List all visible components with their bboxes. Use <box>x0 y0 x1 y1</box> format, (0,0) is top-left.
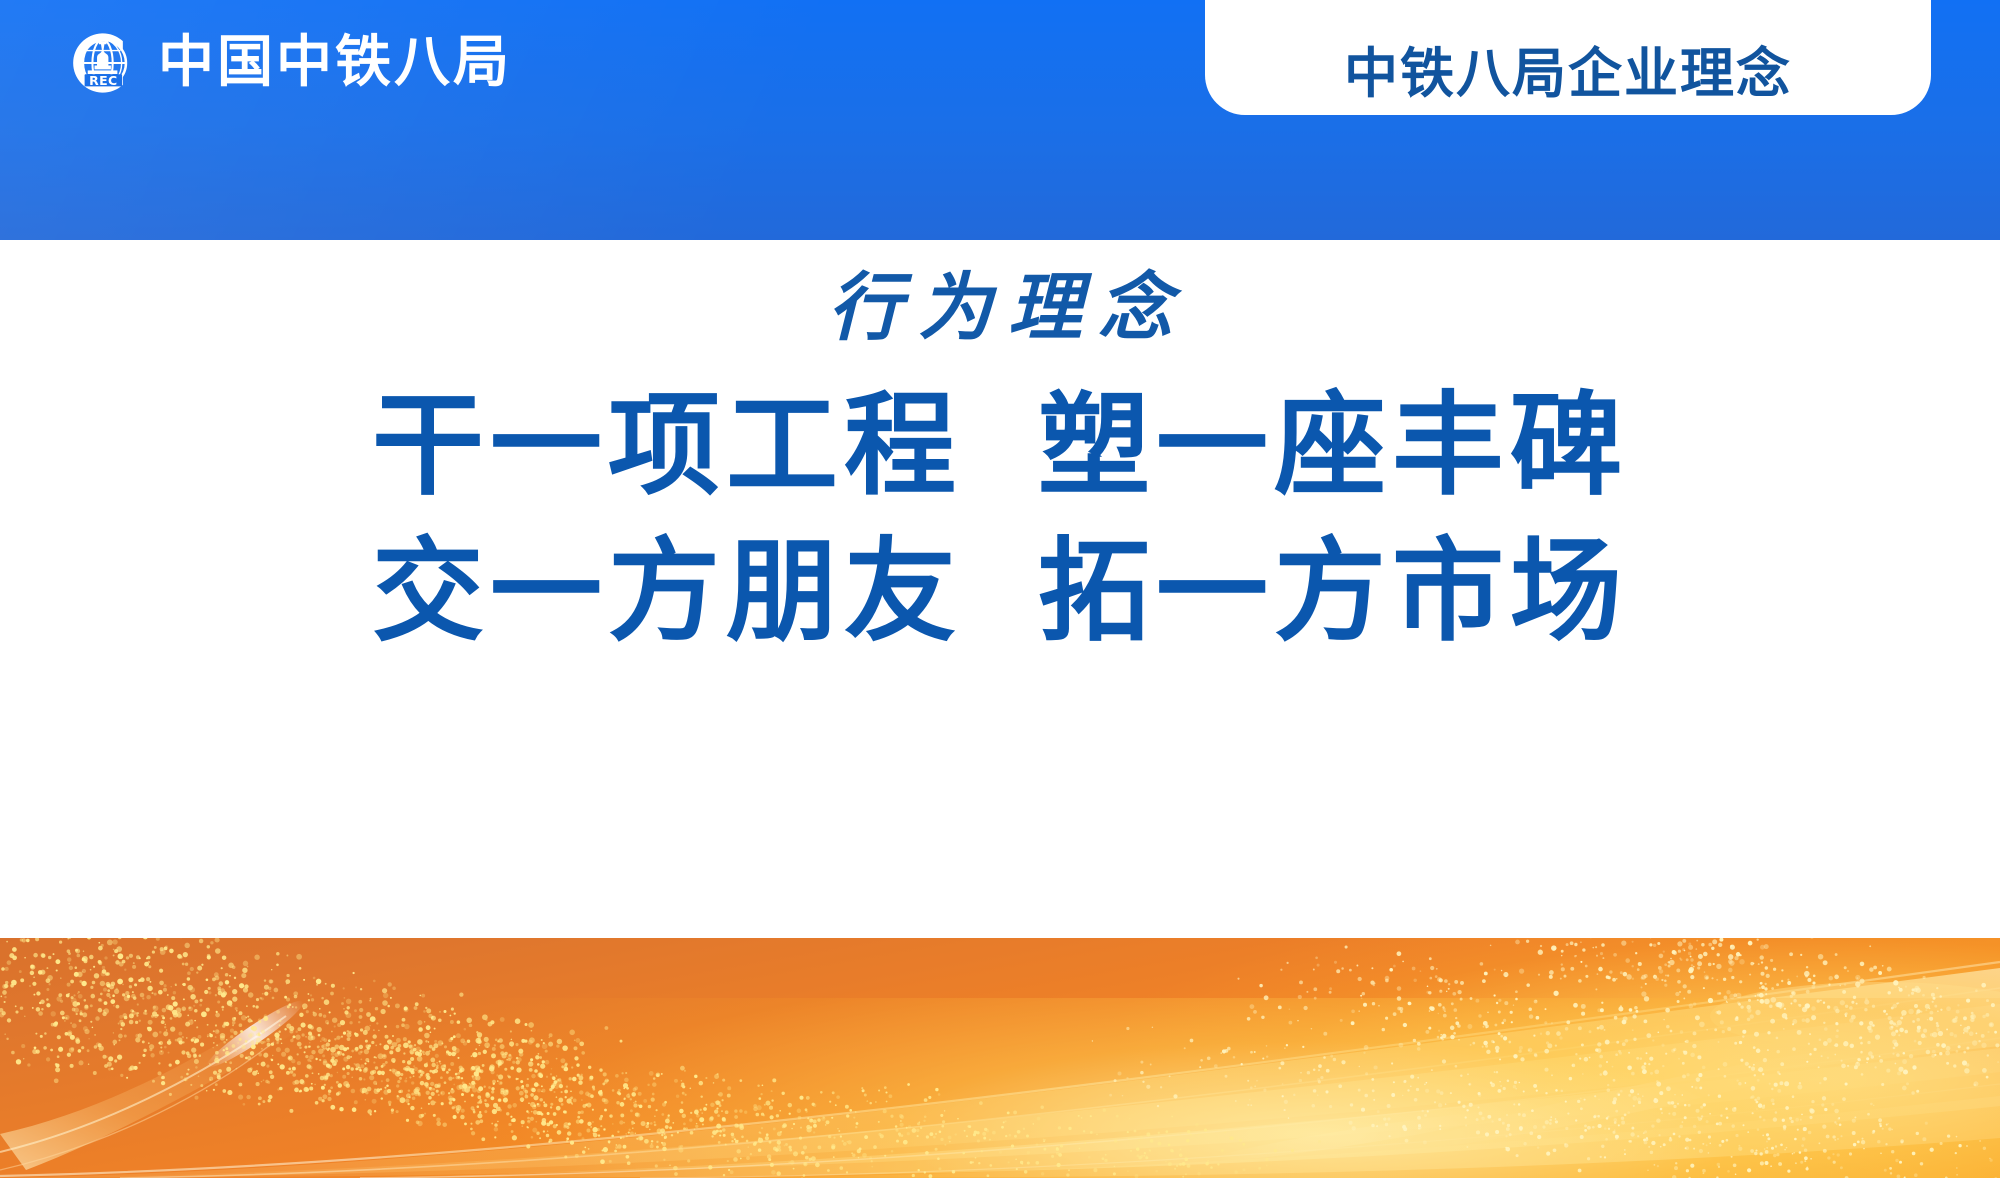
slogan-line-1-right: 塑一座丰碑 <box>1038 390 1628 502</box>
slogan-line-2: 交一方朋友 拓一方市场 <box>372 536 1628 648</box>
section-title: 行为理念 <box>812 270 1188 348</box>
slogan-line-1-left: 干一项工程 <box>372 390 962 502</box>
slogan-line-2-right: 拓一方市场 <box>1038 536 1628 648</box>
footer-decoration-band <box>0 938 2000 1178</box>
slogan-line-1: 干一项工程 塑一座丰碑 <box>372 390 1628 502</box>
poster-header: REC 中国中铁八局 中铁八局企业理念 <box>0 0 2000 240</box>
particle-sparkle-graphic <box>0 938 2000 1178</box>
poster-content: 行为理念 干一项工程 塑一座丰碑 交一方朋友 拓一方市场 <box>0 240 2000 938</box>
slogan-block: 干一项工程 塑一座丰碑 交一方朋友 拓一方市场 <box>372 390 1628 648</box>
china-railway-globe-logo-icon: REC <box>62 24 140 102</box>
badge-label: 中铁八局企业理念 <box>1344 47 1792 101</box>
enterprise-philosophy-poster: REC 中国中铁八局 中铁八局企业理念 行为理念 干一项工程 塑一座丰碑 交一方… <box>0 0 2000 1178</box>
footer-glow-bottom <box>380 998 2000 1178</box>
brand-name-label: 中国中铁八局 <box>158 35 512 91</box>
footer-glow-right <box>1120 938 2000 1178</box>
enterprise-philosophy-badge: 中铁八局企业理念 <box>1205 0 1931 115</box>
light-ribbon-graphic <box>0 938 2000 1178</box>
svg-text:REC: REC <box>89 73 117 88</box>
brand-lockup: REC 中国中铁八局 <box>62 24 512 102</box>
slogan-line-2-left: 交一方朋友 <box>372 536 962 648</box>
